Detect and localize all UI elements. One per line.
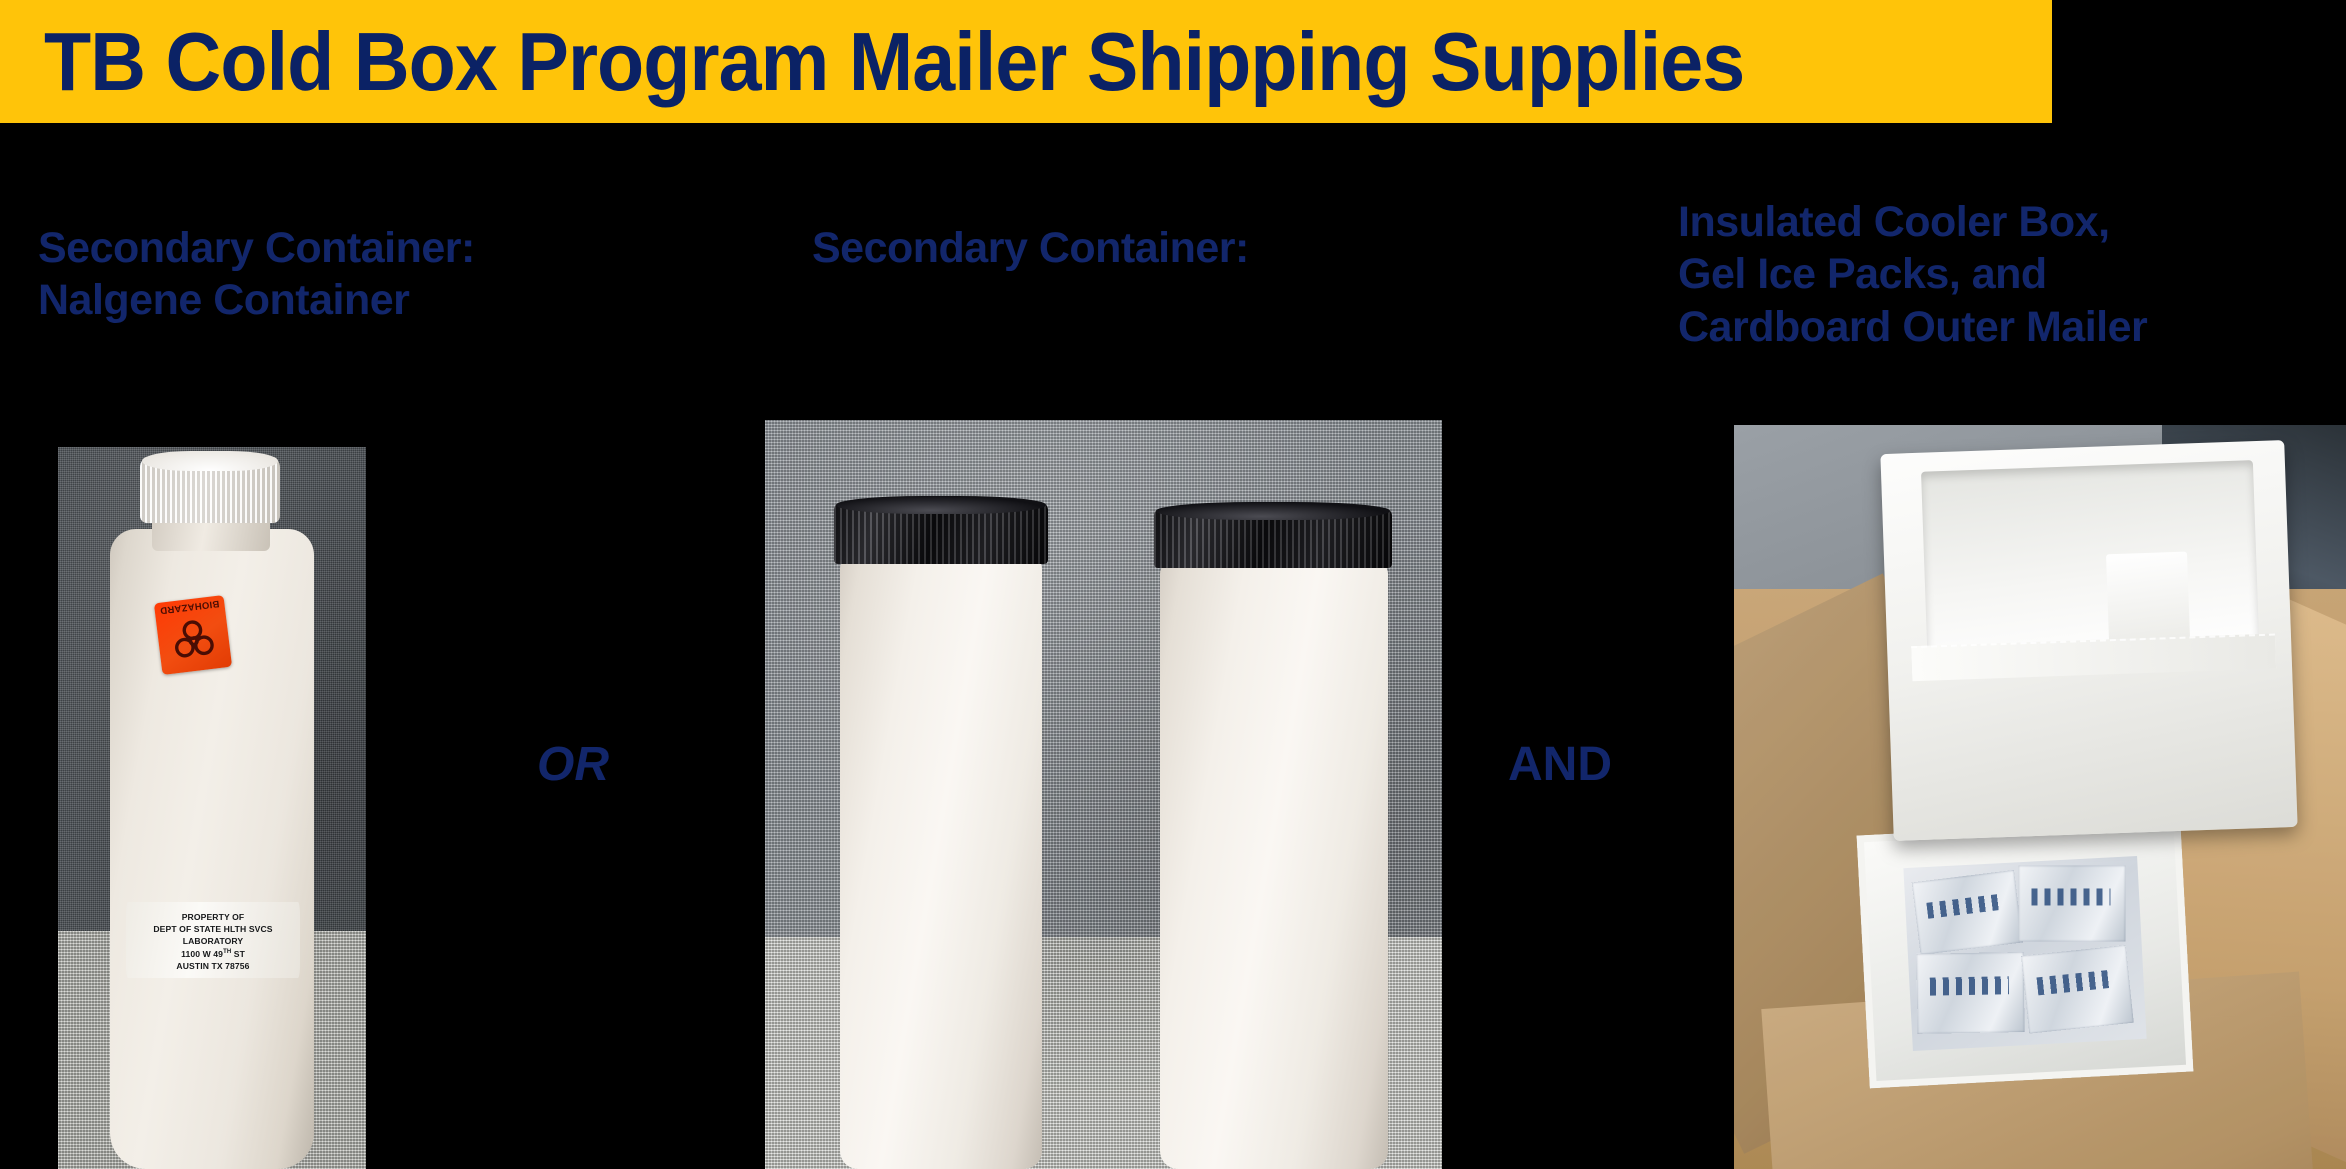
caption-line: Cardboard Outer Mailer: [1678, 301, 2346, 353]
label-line: LABORATORY: [126, 935, 300, 947]
bottle-body: [1160, 560, 1388, 1169]
page-title: TB Cold Box Program Mailer Shipping Supp…: [44, 12, 1895, 112]
cooler-lid-cavity: [1921, 461, 2258, 658]
bottle-cap-top: [1156, 502, 1390, 520]
foam-interior-well: [1856, 818, 2193, 1088]
caption-line: Insulated Cooler Box,: [1678, 196, 2346, 248]
label-line: PROPERTY OF: [126, 911, 300, 923]
two-white-bottles-photo: [765, 420, 1442, 1169]
label-line: AUSTIN TX 78756: [126, 960, 300, 972]
label-line: DEPT OF STATE HLTH SVCS: [126, 923, 300, 935]
property-label-sticker: PROPERTY OF DEPT OF STATE HLTH SVCS LABO…: [126, 902, 300, 978]
caption-cooler-box: Insulated Cooler Box, Gel Ice Packs, and…: [1678, 196, 2346, 353]
caption-line: Gel Ice Packs, and: [1678, 248, 2346, 300]
nalgene-bottle-cap-top: [142, 451, 278, 471]
title-banner: TB Cold Box Program Mailer Shipping Supp…: [0, 0, 2052, 123]
caption-nalgene-container: Secondary Container: Nalgene Container: [38, 222, 698, 327]
property-label-text: PROPERTY OF DEPT OF STATE HLTH SVCS LABO…: [126, 911, 300, 972]
caption-line: Secondary Container:: [812, 222, 1452, 274]
styrofoam-cooler-lid: [1880, 440, 2297, 841]
gel-ice-pack: [2017, 865, 2124, 941]
caption-line: Nalgene Container: [38, 274, 698, 326]
nalgene-container-photo: BIOHAZARD PROPERTY OF DEPT OF STATE HLTH…: [58, 447, 366, 1169]
biohazard-trefoil-icon: [167, 612, 220, 665]
label-line-street: 1100 W 49TH ST: [126, 948, 300, 960]
cooler-box-gel-packs-photo: [1734, 425, 2346, 1169]
caption-line: Secondary Container:: [38, 222, 698, 274]
gel-ice-pack: [2021, 945, 2134, 1034]
gel-ice-pack-group: [1903, 856, 2146, 1050]
caption-secondary-container: Secondary Container:: [812, 222, 1452, 274]
connector-or: OR: [537, 737, 609, 792]
bottle-body: [840, 555, 1042, 1169]
cooler-lid-notch: [2106, 552, 2190, 648]
slide-canvas: TB Cold Box Program Mailer Shipping Supp…: [0, 0, 2346, 1169]
gel-ice-pack: [1911, 870, 2022, 955]
connector-and: AND: [1508, 737, 1612, 792]
gel-ice-pack: [1916, 952, 2025, 1034]
biohazard-sticker: BIOHAZARD: [154, 595, 232, 675]
bottle-cap-top: [836, 496, 1046, 514]
